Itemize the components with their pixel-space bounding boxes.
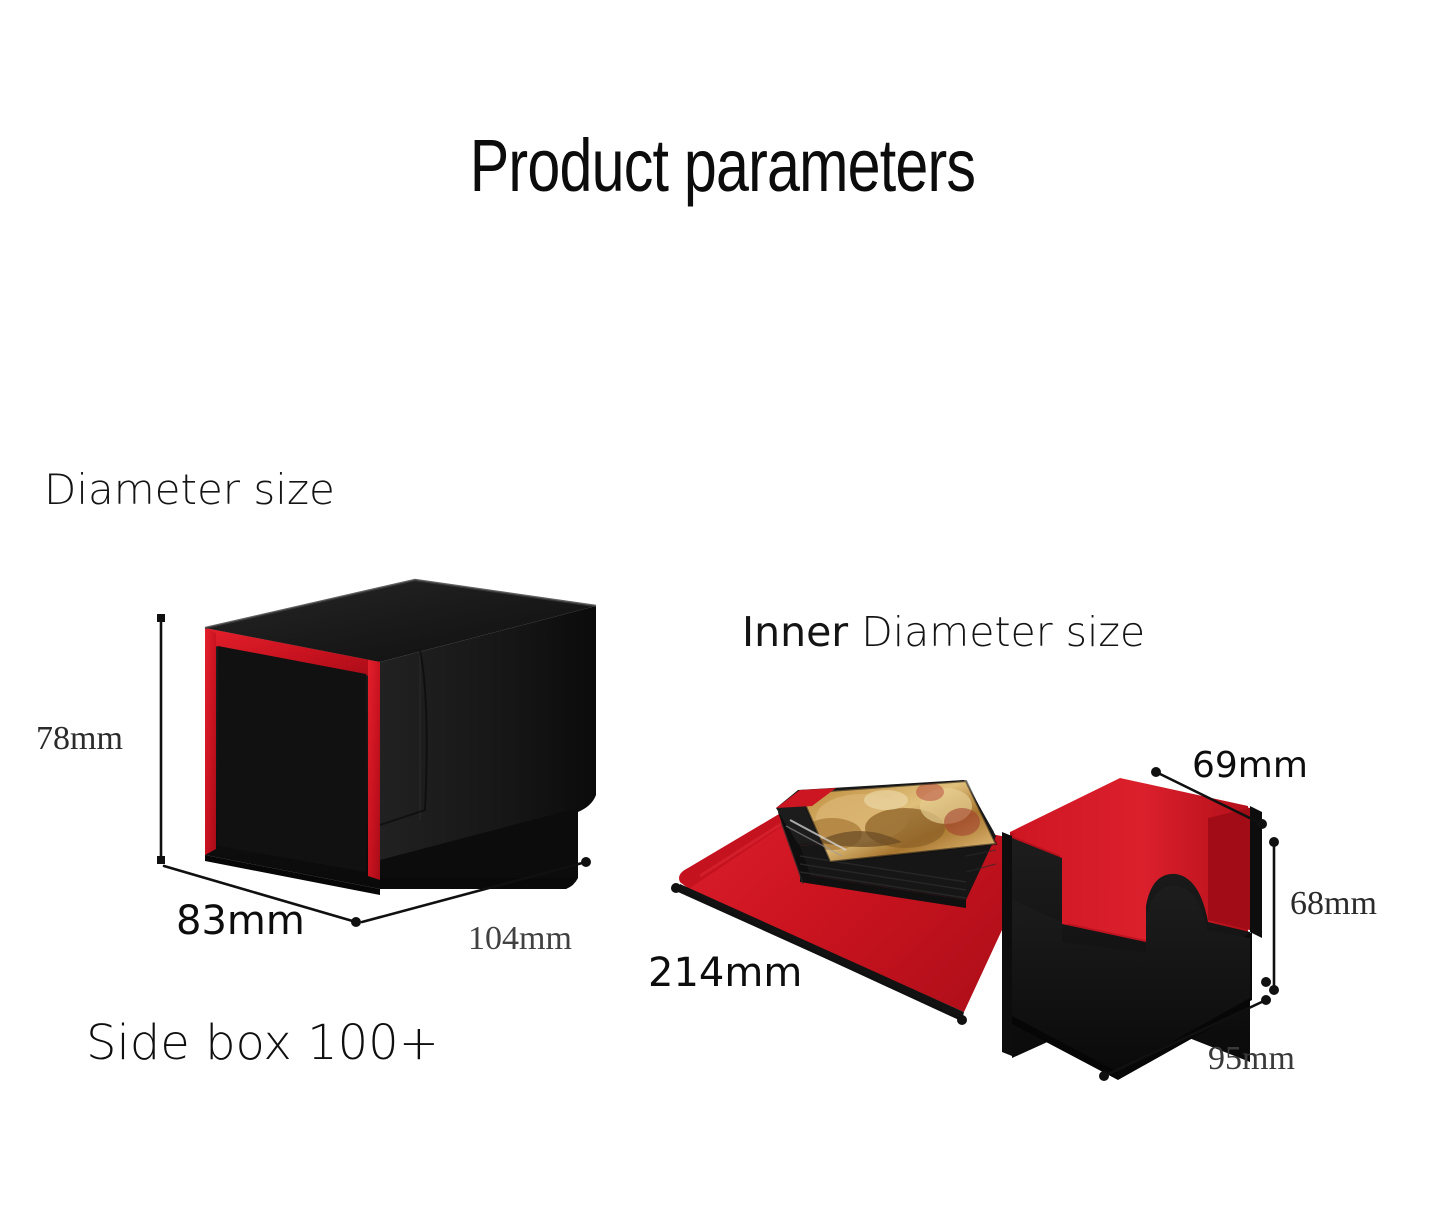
infographic-canvas: Product parameters Diameter size Inner D…	[0, 0, 1445, 1205]
dimension-label-inner-width-69mm: 69mm	[1192, 745, 1308, 786]
dimension-label-depth-104mm: 104mm	[468, 920, 572, 958]
dimension-label-inner-height-68mm: 68mm	[1290, 885, 1377, 923]
dimension-label-width-83mm: 83mm	[176, 898, 305, 944]
dimension-label-open-length-214mm: 214mm	[648, 950, 802, 996]
dimension-label-outer-depth-95mm: 95mm	[1208, 1040, 1295, 1078]
dimline-78mm	[157, 614, 165, 864]
dimension-lines	[0, 0, 1445, 1205]
dimline-68mm	[1269, 837, 1279, 995]
dimension-label-height-78mm: 78mm	[36, 720, 123, 758]
dimline-104mm	[362, 857, 591, 922]
